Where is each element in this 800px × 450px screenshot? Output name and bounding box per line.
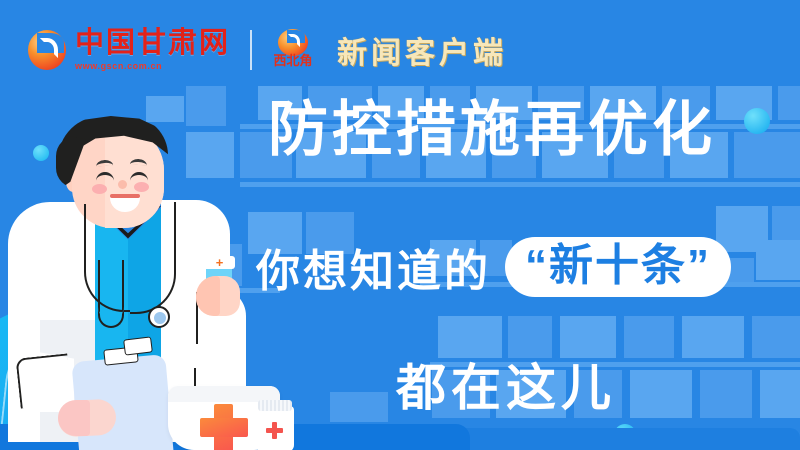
nose bbox=[118, 180, 127, 189]
stethoscope-lower-tube-blue bbox=[98, 260, 124, 320]
stethoscope-bell-icon bbox=[148, 306, 170, 328]
bg-block bbox=[330, 392, 388, 422]
headline-line-2: 你想知道的 “新十条” bbox=[256, 235, 731, 299]
northwest-corner-label: 西北角 bbox=[272, 54, 314, 67]
cheek-right bbox=[134, 182, 149, 192]
highlight-pill: “新十条” bbox=[505, 237, 731, 298]
bg-block bbox=[756, 240, 800, 280]
headline-line-2-prefix: 你想知道的 bbox=[256, 235, 491, 299]
site-logo-header[interactable]: 中国甘肃网 www.gscn.com.cn 西北角 新闻客户端 bbox=[28, 28, 507, 72]
bg-block bbox=[682, 316, 744, 358]
bg-block bbox=[778, 86, 800, 120]
medical-cross-icon bbox=[200, 418, 248, 437]
accent-dot-icon bbox=[744, 108, 770, 134]
medical-cross-icon: + bbox=[215, 258, 224, 267]
bg-block bbox=[760, 370, 800, 418]
eyebrow-left bbox=[96, 159, 113, 166]
bg-shelf-line bbox=[240, 182, 800, 187]
coat-pocket bbox=[123, 336, 153, 355]
highlight-pill-label: “新十条” bbox=[525, 242, 711, 290]
brand-wordmark[interactable]: 中国甘肃网 www.gscn.com.cn bbox=[75, 29, 230, 71]
logo-divider bbox=[250, 30, 252, 70]
brand-name: 中国甘肃网 bbox=[75, 29, 230, 58]
bg-block bbox=[700, 370, 752, 418]
poster-canvas: + 中国甘肃网 www.gscn.com.cn bbox=[0, 0, 800, 450]
yinyang-swirl-icon bbox=[28, 30, 66, 70]
bg-block bbox=[734, 132, 800, 178]
northwest-corner-logo[interactable]: 西北角 bbox=[272, 29, 314, 71]
bg-block bbox=[624, 316, 674, 358]
medical-cross-icon bbox=[266, 428, 283, 433]
headline-line-3: 都在这儿 bbox=[396, 348, 616, 420]
cheek-left bbox=[92, 184, 107, 194]
first-aid-kit-group bbox=[168, 372, 318, 450]
left-sleeve-outline bbox=[16, 353, 73, 408]
brand-url: www.gscn.com.cn bbox=[75, 61, 162, 71]
pill-bottle-cap bbox=[258, 400, 292, 411]
bg-block bbox=[630, 370, 692, 418]
bg-block bbox=[752, 316, 800, 358]
mouth-upper-lip bbox=[110, 194, 140, 198]
headline-line-1: 防控措施再优化 bbox=[268, 98, 716, 161]
holding-hand-shade bbox=[58, 400, 90, 436]
app-name-label: 新闻客户端 bbox=[337, 28, 507, 72]
